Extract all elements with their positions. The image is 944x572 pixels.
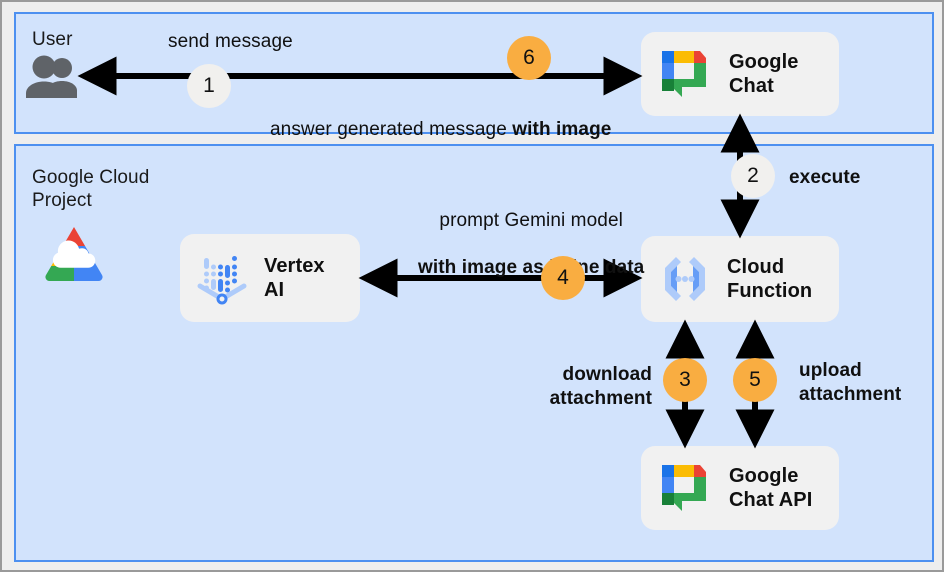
architecture-diagram: User Google Cloud Project bbox=[0, 0, 944, 572]
label-answer-generated-bold: with image bbox=[512, 119, 611, 140]
people-icon bbox=[24, 54, 80, 100]
google-chat-icon bbox=[653, 461, 715, 515]
card-vertex-ai[interactable]: Vertex AI bbox=[180, 234, 360, 322]
card-cloud-function-label: Cloud Function bbox=[727, 255, 812, 303]
user-panel-title: User bbox=[32, 28, 73, 51]
step-badge-5: 5 bbox=[733, 358, 777, 402]
card-google-chat-api-label: Google Chat API bbox=[729, 464, 812, 512]
label-execute: execute bbox=[789, 166, 860, 190]
step-badge-4: 4 bbox=[541, 256, 585, 300]
card-vertex-ai-label: Vertex AI bbox=[264, 254, 325, 302]
step-badge-2: 2 bbox=[731, 154, 775, 198]
label-prompt-gemini-regular: prompt Gemini model bbox=[418, 209, 644, 233]
card-cloud-function[interactable]: Cloud Function bbox=[641, 236, 839, 322]
card-google-chat-label: Google Chat bbox=[729, 50, 799, 98]
google-cloud-project-panel-title: Google Cloud Project bbox=[32, 166, 149, 212]
card-google-chat-api[interactable]: Google Chat API bbox=[641, 446, 839, 530]
cloud-function-icon bbox=[655, 251, 715, 307]
step-badge-6: 6 bbox=[507, 36, 551, 80]
label-prompt-gemini-bold: with image as inline data bbox=[418, 256, 644, 280]
label-upload-attachment: upload attachment bbox=[799, 359, 901, 406]
label-answer-generated-regular: answer generated message bbox=[270, 119, 512, 140]
step-badge-1: 1 bbox=[187, 64, 231, 108]
label-send-message: send message bbox=[168, 30, 293, 54]
vertex-ai-icon bbox=[192, 250, 252, 306]
step-badge-3: 3 bbox=[663, 358, 707, 402]
label-download-attachment: download attachment bbox=[534, 363, 652, 410]
google-chat-icon bbox=[653, 47, 715, 101]
google-cloud-logo bbox=[38, 224, 110, 288]
label-answer-generated-message: answer generated message with image bbox=[270, 94, 611, 141]
label-prompt-gemini: prompt Gemini model with image as inline… bbox=[418, 185, 644, 303]
card-google-chat[interactable]: Google Chat bbox=[641, 32, 839, 116]
